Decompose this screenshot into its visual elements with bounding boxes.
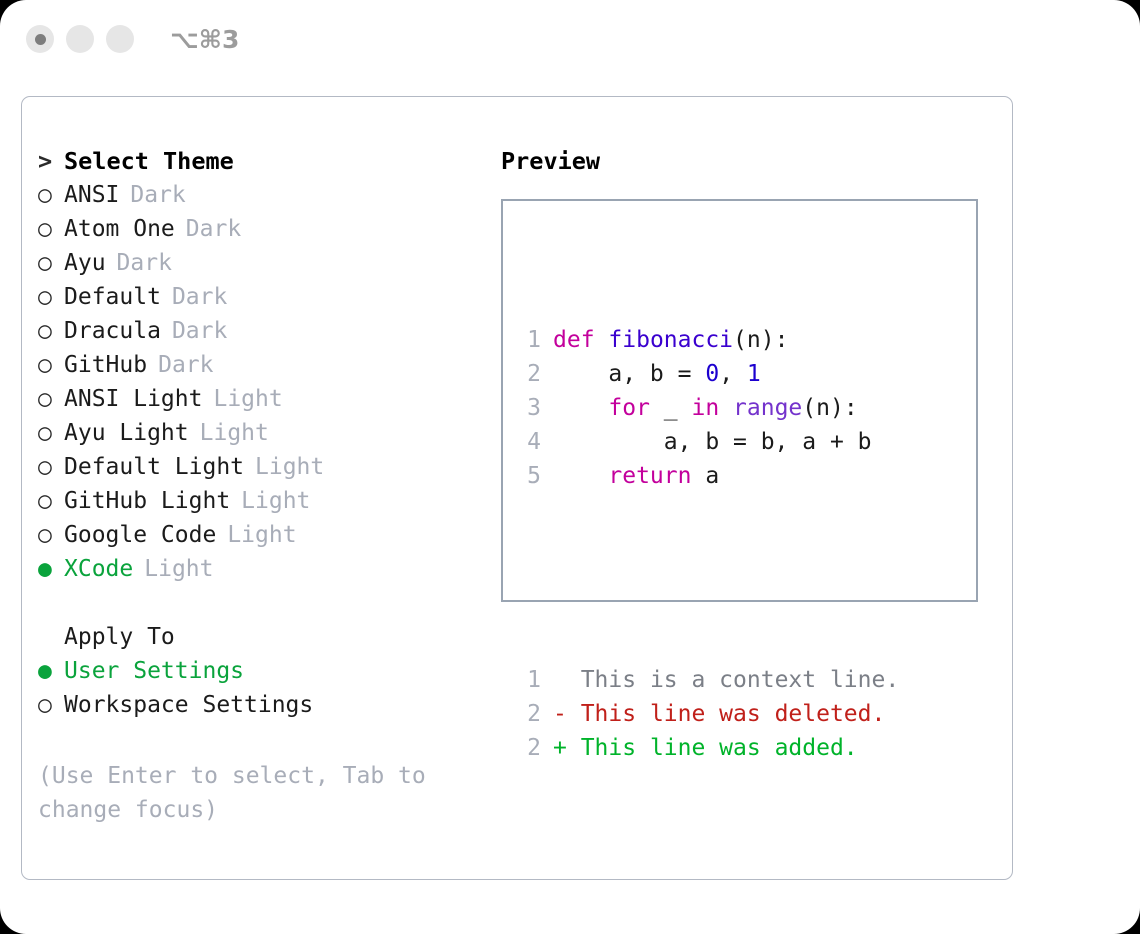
theme-option-label: Default	[64, 284, 161, 310]
theme-option-ansi[interactable]: ○ANSIDark	[38, 178, 488, 212]
code-line-number: 2	[515, 357, 541, 391]
theme-option-kind: Dark	[158, 352, 213, 378]
apply-to-heading-label: Apply To	[64, 624, 175, 650]
code-line: 4 a, b = b, a + b	[515, 425, 899, 459]
theme-option-google-code[interactable]: ○Google CodeLight	[38, 518, 488, 552]
traffic-lights	[26, 25, 134, 53]
code-line-number: 4	[515, 425, 541, 459]
code-token	[553, 395, 608, 421]
apply-to-heading: Apply To	[38, 620, 488, 654]
code-line-number: 5	[515, 459, 541, 493]
theme-option-label: GitHub Light	[64, 488, 230, 514]
code-token	[553, 463, 608, 489]
code-token: def	[553, 327, 595, 353]
theme-option-github-light[interactable]: ○GitHub LightLight	[38, 484, 488, 518]
code-token	[595, 327, 609, 353]
code-token: for	[608, 395, 650, 421]
radio-empty-icon: ○	[38, 178, 64, 212]
code-token: (n):	[802, 395, 857, 421]
apply-to-option-label: User Settings	[64, 658, 244, 684]
diff-sign	[553, 667, 567, 693]
diff-line: 2- This line was deleted.	[515, 697, 899, 731]
window-button-2[interactable]	[66, 25, 94, 53]
code-diff-separator	[515, 561, 899, 595]
theme-option-kind: Light	[227, 522, 296, 548]
apply-to-option-user-settings[interactable]: ●User Settings	[38, 654, 488, 688]
diff-line-number: 2	[515, 697, 541, 731]
record-dot-icon	[35, 34, 46, 45]
radio-empty-icon: ○	[38, 518, 64, 552]
radio-empty-icon: ○	[38, 280, 64, 314]
theme-picker-column: >Select Theme ○ANSIDark○Atom OneDark○Ayu…	[38, 144, 488, 722]
theme-option-label: Google Code	[64, 522, 216, 548]
radio-empty-icon: ○	[38, 484, 64, 518]
diff-sign: -	[553, 701, 567, 727]
code-token	[719, 395, 733, 421]
apply-to-options: ●User Settings○Workspace Settings	[38, 654, 488, 722]
theme-option-label: Ayu Light	[64, 420, 189, 446]
keyboard-hint: (Use Enter to select, Tab to change focu…	[38, 759, 458, 827]
select-theme-heading: >Select Theme	[38, 144, 488, 178]
radio-selected-icon: ●	[38, 654, 64, 688]
theme-option-kind: Dark	[172, 284, 227, 310]
theme-option-label: Atom One	[64, 216, 175, 242]
code-token: a, b =	[553, 361, 705, 387]
theme-option-default-light[interactable]: ○Default LightLight	[38, 450, 488, 484]
radio-empty-icon: ○	[38, 212, 64, 246]
diff-line: 2+ This line was added.	[515, 731, 899, 765]
code-block: 1def fibonacci(n):2 a, b = 0, 13 for _ i…	[515, 323, 899, 493]
code-token: in	[691, 395, 719, 421]
theme-option-ansi-light[interactable]: ○ANSI LightLight	[38, 382, 488, 416]
diff-line: 1 This is a context line.	[515, 663, 899, 697]
radio-empty-icon: ○	[38, 688, 64, 722]
diff-sign: +	[553, 735, 567, 761]
theme-option-kind: Dark	[117, 250, 172, 276]
radio-empty-icon: ○	[38, 416, 64, 450]
theme-option-label: ANSI	[64, 182, 119, 208]
theme-option-atom-one[interactable]: ○Atom OneDark	[38, 212, 488, 246]
code-token: 1	[747, 361, 761, 387]
theme-list: ○ANSIDark○Atom OneDark○AyuDark○DefaultDa…	[38, 178, 488, 586]
select-theme-heading-label: Select Theme	[64, 147, 234, 175]
theme-option-label: ANSI Light	[64, 386, 202, 412]
theme-option-label: Dracula	[64, 318, 161, 344]
diff-text: This is a context line.	[567, 667, 899, 693]
code-line: 5 return a	[515, 459, 899, 493]
apply-to-option-label: Workspace Settings	[64, 692, 313, 718]
preview-title: Preview	[501, 144, 991, 178]
radio-empty-icon: ○	[38, 382, 64, 416]
code-line-number: 3	[515, 391, 541, 425]
code-line: 3 for _ in range(n):	[515, 391, 899, 425]
code-token: (n):	[733, 327, 788, 353]
code-token: a, b = b, a + b	[553, 429, 872, 455]
radio-empty-icon: ○	[38, 246, 64, 280]
radio-empty-icon: ○	[38, 450, 64, 484]
preview-code: 1def fibonacci(n):2 a, b = 0, 13 for _ i…	[515, 255, 899, 833]
code-token: ,	[719, 361, 747, 387]
theme-option-github[interactable]: ○GitHubDark	[38, 348, 488, 382]
theme-option-dracula[interactable]: ○DraculaDark	[38, 314, 488, 348]
preview-column: Preview 1def fibonacci(n):2 a, b = 0, 13…	[501, 144, 991, 602]
theme-option-kind: Dark	[172, 318, 227, 344]
code-line: 2 a, b = 0, 1	[515, 357, 899, 391]
record-button[interactable]	[26, 25, 54, 53]
apply-to-indent-icon	[38, 620, 64, 654]
apply-to-option-workspace-settings[interactable]: ○Workspace Settings	[38, 688, 488, 722]
diff-line-number: 2	[515, 731, 541, 765]
theme-option-label: Default Light	[64, 454, 244, 480]
theme-option-ayu[interactable]: ○AyuDark	[38, 246, 488, 280]
title-bar: ⌥⌘3	[0, 0, 1140, 78]
theme-option-kind: Light	[213, 386, 282, 412]
theme-option-kind: Dark	[186, 216, 241, 242]
code-token: fibonacci	[608, 327, 733, 353]
radio-empty-icon: ○	[38, 348, 64, 382]
diff-block: 1 This is a context line.2- This line wa…	[515, 663, 899, 765]
theme-option-kind: Dark	[130, 182, 185, 208]
theme-option-label: GitHub	[64, 352, 147, 378]
theme-option-kind: Light	[241, 488, 310, 514]
app-window: ⌥⌘3 >Select Theme ○ANSIDark○Atom OneDark…	[0, 0, 1140, 934]
main-panel: >Select Theme ○ANSIDark○Atom OneDark○Ayu…	[21, 96, 1013, 880]
code-token: a	[691, 463, 719, 489]
diff-text: This line was added.	[567, 735, 858, 761]
preview-box: 1def fibonacci(n):2 a, b = 0, 13 for _ i…	[501, 199, 978, 602]
code-token: return	[608, 463, 691, 489]
radio-selected-icon: ●	[38, 552, 64, 586]
keyboard-shortcut-label: ⌥⌘3	[170, 25, 239, 54]
code-token: range	[733, 395, 802, 421]
heading-marker-icon: >	[38, 144, 64, 178]
code-token: _	[650, 395, 692, 421]
theme-option-label: Ayu	[64, 250, 106, 276]
theme-option-default[interactable]: ○DefaultDark	[38, 280, 488, 314]
theme-option-label: XCode	[64, 556, 133, 582]
theme-option-xcode[interactable]: ●XCodeLight	[38, 552, 488, 586]
code-line: 1def fibonacci(n):	[515, 323, 899, 357]
theme-option-ayu-light[interactable]: ○Ayu LightLight	[38, 416, 488, 450]
window-button-3[interactable]	[106, 25, 134, 53]
diff-text: This line was deleted.	[567, 701, 886, 727]
theme-option-kind: Light	[200, 420, 269, 446]
theme-option-kind: Light	[144, 556, 213, 582]
code-token: 0	[705, 361, 719, 387]
list-spacer	[38, 586, 488, 620]
radio-empty-icon: ○	[38, 314, 64, 348]
theme-option-kind: Light	[255, 454, 324, 480]
code-line-number: 1	[515, 323, 541, 357]
diff-line-number: 1	[515, 663, 541, 697]
